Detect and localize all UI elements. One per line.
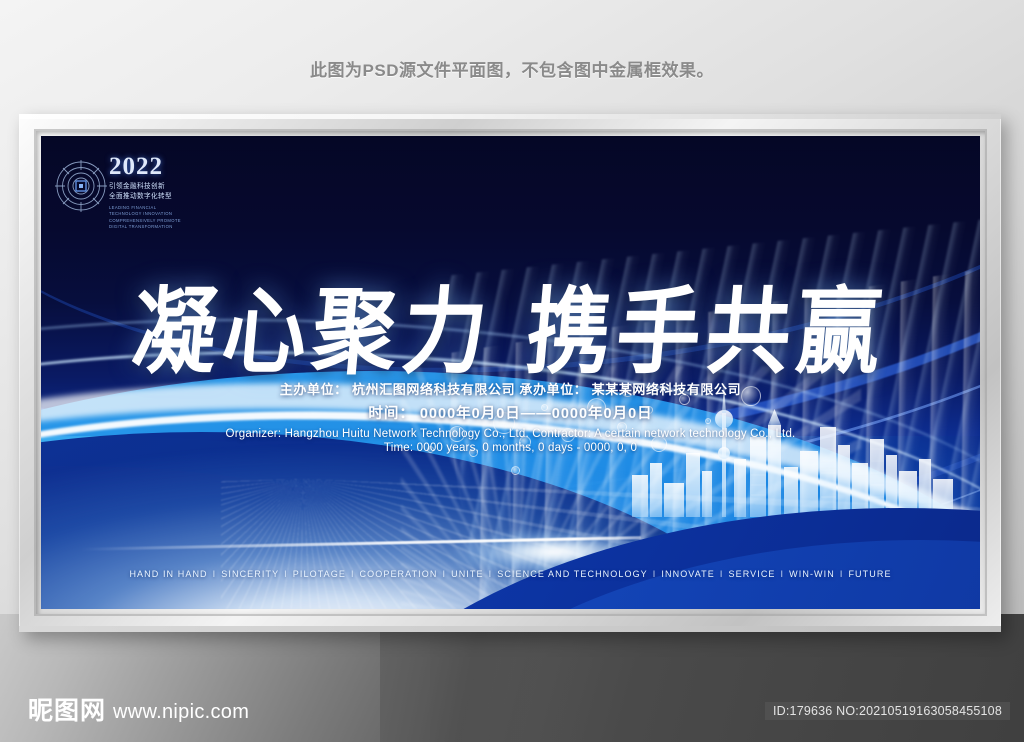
poster-title-part2: 携手共赢	[522, 281, 891, 385]
info-organizers-en: Organizer: Hangzhou Huitu Network Techno…	[41, 428, 980, 440]
poster-artwork: 2022 引领金融科技创新 全面推动数字化转型 LEADING FINANCIA…	[41, 136, 980, 609]
keyword-item: UNITE	[451, 569, 484, 579]
logo-text-block: 2022 引领金融科技创新 全面推动数字化转型 LEADING FINANCIA…	[109, 154, 219, 230]
site-url: www.nipic.com	[113, 701, 249, 724]
poster-title-part1: 凝心聚力	[128, 281, 497, 385]
keyword-item: FUTURE	[848, 569, 891, 579]
keyword-separator: I	[653, 569, 657, 579]
keyword-separator: I	[284, 569, 288, 579]
keyword-separator: I	[443, 569, 447, 579]
logo-slogan-en-line4: DIGITAL TRANSFORMATION	[109, 224, 219, 230]
asset-id-label: ID:179636 NO:20210519163058455108	[765, 702, 1010, 720]
keyword-separator: I	[351, 569, 355, 579]
keyword-separator: I	[840, 569, 844, 579]
keyword-separator: I	[489, 569, 493, 579]
info-organizers-cn: 主办单位： 杭州汇图网络科技有限公司 承办单位： 某某某网络科技有限公司	[41, 379, 980, 398]
keyword-separator: I	[213, 569, 217, 579]
keyword-separator: I	[781, 569, 785, 579]
bubble-decoration	[511, 466, 520, 475]
keyword-item: SERVICE	[728, 569, 775, 579]
logo-slogan-cn-line1: 引领金融科技创新	[109, 182, 219, 192]
logo-slogan-en: LEADING FINANCIAL TECHNOLOGY INNOVATION …	[109, 205, 219, 230]
event-logo: 2022 引领金融科技创新 全面推动数字化转型 LEADING FINANCIA…	[55, 158, 215, 228]
keyword-item: PILOTAGE	[293, 569, 346, 579]
keyword-item: HAND IN HAND	[129, 569, 207, 579]
logo-year: 2022	[109, 154, 219, 179]
page-caption: 此图为PSD源文件平面图，不包含图中金属框效果。	[0, 56, 1024, 81]
poster-keyword-strip: HAND IN HANDISINCERITYIPILOTAGEICOOPERAT…	[41, 569, 980, 579]
site-watermark[interactable]: 昵图网 www.nipic.com	[28, 699, 249, 724]
logo-slogan-cn: 引领金融科技创新 全面推动数字化转型	[109, 182, 219, 201]
poster-title: 凝心聚力携手共赢	[41, 257, 980, 393]
logo-slogan-cn-line2: 全面推动数字化转型	[109, 192, 219, 202]
keyword-item: INNOVATE	[661, 569, 714, 579]
keyword-item: SINCERITY	[221, 569, 279, 579]
keyword-item: WIN-WIN	[789, 569, 835, 579]
poster-info-block: 主办单位： 杭州汇图网络科技有限公司 承办单位： 某某某网络科技有限公司 时间：…	[41, 379, 980, 454]
screenshot-stage: 此图为PSD源文件平面图，不包含图中金属框效果。	[0, 0, 1024, 742]
crosshair-target-icon	[55, 160, 107, 212]
info-time-cn: 时间： 0000年0月0日——0000年0月0日	[41, 402, 980, 423]
metal-frame: 2022 引领金融科技创新 全面推动数字化转型 LEADING FINANCIA…	[19, 114, 1001, 632]
keyword-separator: I	[720, 569, 724, 579]
info-time-en: Time: 0000 years, 0 months, 0 days - 000…	[41, 442, 980, 454]
keyword-item: COOPERATION	[360, 569, 438, 579]
site-name-cn: 昵图网	[28, 699, 106, 724]
keyword-item: SCIENCE AND TECHNOLOGY	[497, 569, 648, 579]
